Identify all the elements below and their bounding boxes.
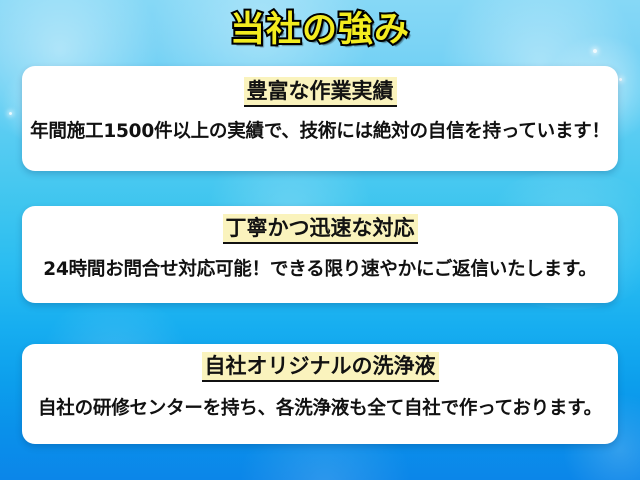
strength-card-body: 年間施工1500件以上の実績で、技術には絶対の自信を持っています！ — [22, 120, 618, 144]
page-title: 当社の強み — [0, 9, 640, 51]
strength-card-heading-text: 丁寧かつ迅速な対応 — [223, 214, 418, 244]
strength-card-heading-text: 豊富な作業実績 — [244, 77, 397, 107]
strength-card: 豊富な作業実績 年間施工1500件以上の実績で、技術には絶対の自信を持っています… — [22, 66, 618, 171]
strength-card: 自社オリジナルの洗浄液 自社の研修センターを持ち、各洗浄液も全て自社で作っており… — [22, 344, 618, 444]
strength-card-heading-text: 自社オリジナルの洗浄液 — [202, 352, 439, 382]
strength-card-body: 24時間お問合せ対応可能！できる限り速やかにご返信いたします。 — [22, 258, 618, 282]
strength-card-heading: 丁寧かつ迅速な対応 — [22, 214, 618, 244]
strength-card-body: 自社の研修センターを持ち、各洗浄液も全て自社で作っております。 — [22, 397, 618, 421]
strength-card-heading: 豊富な作業実績 — [22, 77, 618, 107]
sparkle-icon — [619, 78, 622, 81]
strength-card-heading: 自社オリジナルの洗浄液 — [22, 352, 618, 382]
sparkle-icon — [9, 112, 12, 115]
promo-slide: 当社の強み 豊富な作業実績 年間施工1500件以上の実績で、技術には絶対の自信を… — [0, 0, 640, 480]
strength-card: 丁寧かつ迅速な対応 24時間お問合せ対応可能！できる限り速やかにご返信いたします… — [22, 206, 618, 303]
